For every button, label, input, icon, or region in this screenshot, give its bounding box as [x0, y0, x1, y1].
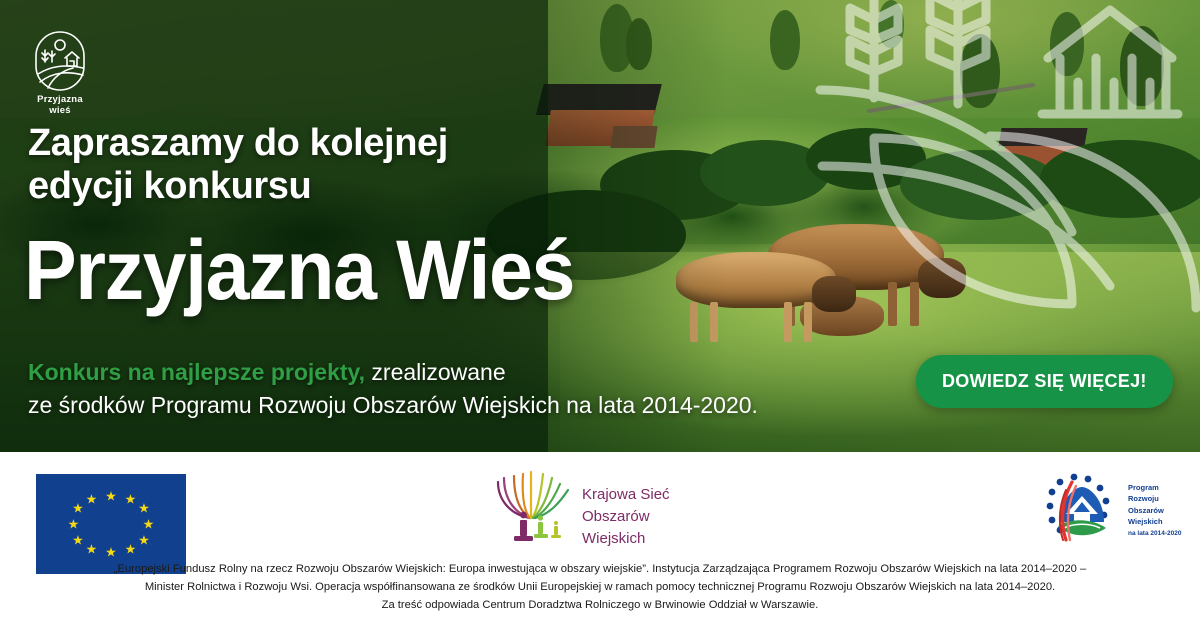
eu-star: ★	[125, 543, 137, 556]
prow-wordmark: Program Rozwoju Obszarów Wiejskich na la…	[1128, 482, 1181, 539]
cow-leg	[784, 302, 792, 342]
disclaimer-line-2: Minister Rolnictwa i Rozwoju Wsi. Operac…	[40, 578, 1160, 596]
pavilion-icon	[1042, 10, 1178, 114]
logo-caption-line2: wieś	[49, 105, 70, 116]
prow-line-2: Rozwoju	[1128, 493, 1181, 504]
rural-scene-logo-icon	[31, 30, 89, 92]
eu-star: ★	[86, 543, 98, 556]
hero-section: Przyjazna wieś Zapraszamy do kolejnej ed…	[0, 0, 1200, 452]
eu-star: ★	[138, 534, 150, 547]
learn-more-button[interactable]: DOWIEDZ SIĘ WIĘCEJ!	[916, 355, 1173, 408]
hero-subtitle-line-1: Konkurs na najlepsze projekty, zrealizow…	[28, 358, 868, 387]
prow-line-4: Wiejskich	[1128, 516, 1181, 527]
wheat-icon-center	[930, 0, 986, 104]
sponsor-logos: ★ ★ ★ ★ ★ ★ ★ ★ ★ ★ ★ ★	[0, 452, 1200, 552]
eu-star: ★	[105, 490, 117, 503]
headline-line-1: Zapraszamy do kolejnej	[28, 122, 448, 164]
przyjazna-wies-logo[interactable]: Przyjazna wieś	[24, 30, 96, 118]
eu-star: ★	[143, 518, 155, 531]
disclaimer-line-3: Za treść odpowiada Centrum Doradztwa Rol…	[40, 596, 1160, 614]
decorative-rural-line-art	[810, 0, 1200, 316]
eu-flag-logo: ★ ★ ★ ★ ★ ★ ★ ★ ★ ★ ★ ★	[36, 474, 186, 574]
footer-section: ★ ★ ★ ★ ★ ★ ★ ★ ★ ★ ★ ★	[0, 452, 1200, 627]
logo-caption-line1: Przyjazna	[37, 94, 83, 105]
ksow-wordmark: Krajowa Sieć Obszarów Wiejskich	[582, 484, 710, 549]
eu-stars: ★ ★ ★ ★ ★ ★ ★ ★ ★ ★ ★ ★	[36, 474, 186, 574]
eu-star: ★	[72, 502, 84, 515]
prow-years: na lata 2014-2020	[1128, 529, 1181, 539]
page-title: Przyjazna Wieś	[24, 228, 574, 312]
prow-line-1: Program	[1128, 482, 1181, 493]
hero-headline: Zapraszamy do kolejnej edycji konkursu	[28, 122, 728, 208]
eu-star: ★	[125, 493, 137, 506]
eu-star: ★	[105, 546, 117, 559]
prow-emblem-icon	[1040, 470, 1124, 546]
headline-line-2: edycji konkursu	[28, 165, 728, 208]
tree-silhouette	[770, 10, 800, 70]
logo-caption: Przyjazna wieś	[24, 95, 96, 117]
leaf-outline-large	[820, 90, 1196, 308]
eu-star: ★	[86, 493, 98, 506]
prow-logo: Program Rozwoju Obszarów Wiejskich na la…	[1040, 470, 1190, 546]
eu-star: ★	[68, 518, 80, 531]
ksow-fan-icon	[490, 470, 576, 544]
ksow-logo: Krajowa Sieć Obszarów Wiejskich	[490, 470, 710, 544]
disclaimer-line-1: „Europejski Fundusz Rolny na rzecz Rozwo…	[40, 560, 1160, 578]
ksow-line-1: Krajowa Sieć	[582, 484, 710, 506]
wheat-icon-left	[850, 0, 898, 98]
eu-star: ★	[72, 534, 84, 547]
subtitle-highlight: Konkurs na najlepsze projekty,	[28, 359, 365, 385]
funding-disclaimer: „Europejski Fundusz Rolny na rzecz Rozwo…	[40, 560, 1160, 614]
eu-star: ★	[138, 502, 150, 515]
ksow-line-2: Obszarów Wiejskich	[582, 506, 710, 550]
hero-subtitle-line-2: ze środków Programu Rozwoju Obszarów Wie…	[28, 391, 888, 420]
promo-banner: Przyjazna wieś Zapraszamy do kolejnej ed…	[0, 0, 1200, 627]
prow-line-3: Obszarów	[1128, 505, 1181, 516]
subtitle-rest: zrealizowane	[365, 359, 506, 385]
